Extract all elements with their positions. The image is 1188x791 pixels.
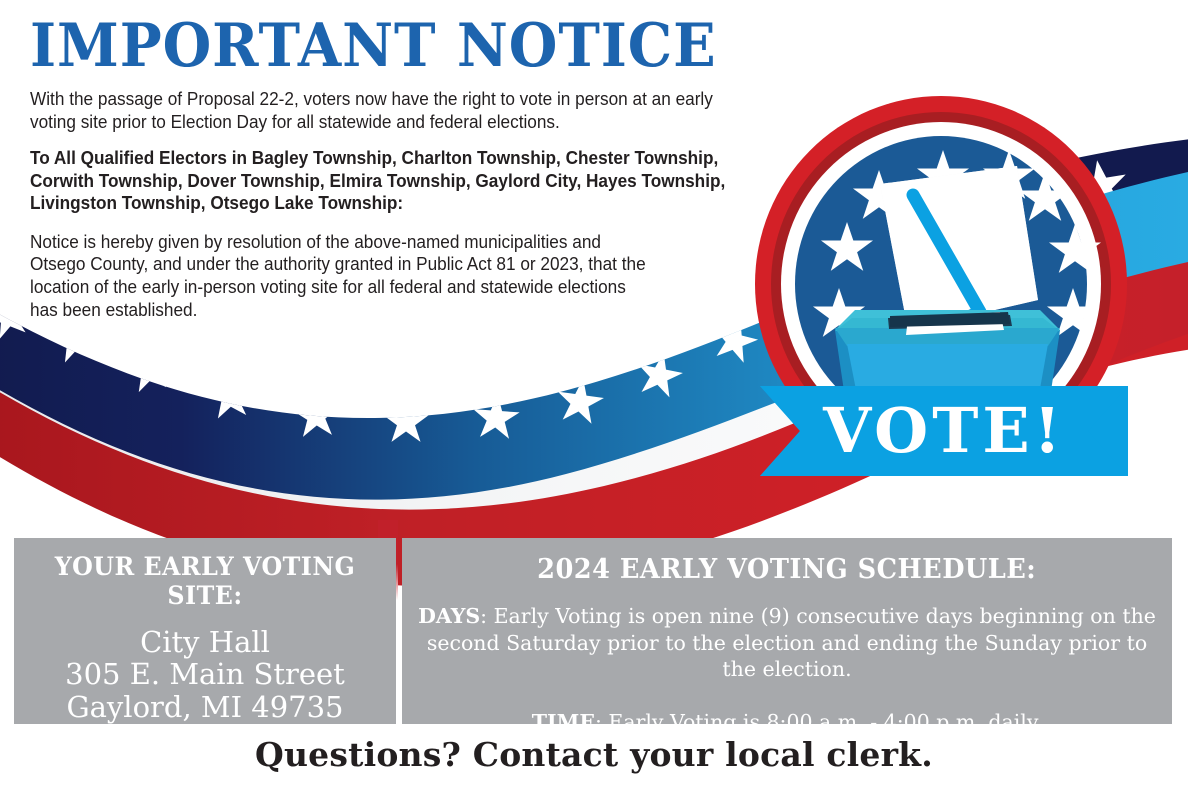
schedule-box-heading: 2024 EARLY VOTING SCHEDULE: bbox=[537, 554, 1036, 585]
page-title: IMPORTANT NOTICE bbox=[30, 16, 681, 76]
ballot-box bbox=[835, 310, 1060, 414]
schedule-days-text: : Early Voting is open nine (9) consecut… bbox=[427, 604, 1156, 681]
site-address-line-1: City Hall bbox=[65, 626, 345, 658]
schedule-time-text: : Early Voting is 8:00 a.m. - 4:00 p.m. … bbox=[595, 710, 1042, 734]
site-address-line-2: 305 E. Main Street bbox=[65, 658, 345, 690]
intro-paragraph: With the passage of Proposal 22-2, voter… bbox=[30, 88, 741, 133]
badge-navy-disc bbox=[795, 136, 1087, 432]
ribbon-label: VOTE! bbox=[822, 394, 1065, 467]
early-voting-schedule-box: 2024 EARLY VOTING SCHEDULE: DAYS: Early … bbox=[402, 538, 1172, 724]
site-address: City Hall 305 E. Main Street Gaylord, MI… bbox=[65, 626, 345, 723]
site-address-line-3: Gaylord, MI 49735 bbox=[65, 691, 345, 723]
footer-question: Questions? Contact your local clerk. bbox=[0, 735, 1188, 774]
schedule-days-line: DAYS: Early Voting is open nine (9) cons… bbox=[417, 603, 1157, 683]
badge-stars bbox=[813, 150, 1101, 337]
site-box-heading: YOUR EARLY VOTING SITE: bbox=[24, 552, 387, 610]
notice-text-block: IMPORTANT NOTICE With the passage of Pro… bbox=[30, 16, 730, 335]
early-voting-site-box: YOUR EARLY VOTING SITE: City Hall 305 E.… bbox=[14, 538, 396, 724]
schedule-time-label: TIME bbox=[532, 710, 595, 734]
vote-ribbon: VOTE! bbox=[760, 386, 1128, 476]
resolution-paragraph: Notice is hereby given by resolution of … bbox=[30, 231, 655, 321]
poster-canvas: VOTE! IMPORTANT NOTICE With the passage … bbox=[0, 0, 1188, 791]
schedule-days-label: DAYS bbox=[418, 604, 480, 628]
schedule-time-line: TIME: Early Voting is 8:00 a.m. - 4:00 p… bbox=[417, 709, 1157, 736]
right-flag-tail bbox=[1000, 138, 1188, 398]
ballot-paper bbox=[880, 166, 1038, 334]
checkmark-icon bbox=[913, 195, 980, 334]
vote-badge: VOTE! bbox=[755, 96, 1128, 476]
electors-paragraph: To All Qualified Electors in Bagley Town… bbox=[30, 147, 741, 215]
